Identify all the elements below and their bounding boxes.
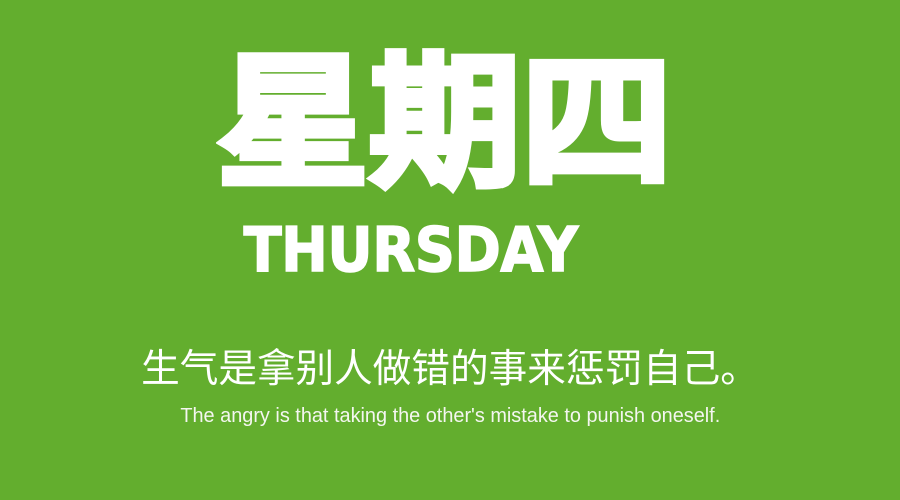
quote-chinese: 生气是拿别人做错的事来惩罚自己。 [141, 348, 759, 392]
quote-english: The angry is that taking the other's mis… [180, 404, 720, 428]
day-name-english: THURSDAY [244, 220, 578, 281]
day-title-block: 星期四 THURSDAY [0, 52, 900, 280]
quote-block: 生气是拿别人做错的事来惩罚自己。 The angry is that takin… [0, 348, 900, 428]
daily-quote-card: 星期四 THURSDAY 生气是拿别人做错的事来惩罚自己。 The angry … [0, 0, 900, 500]
day-name-chinese: 星期四 [218, 52, 674, 196]
